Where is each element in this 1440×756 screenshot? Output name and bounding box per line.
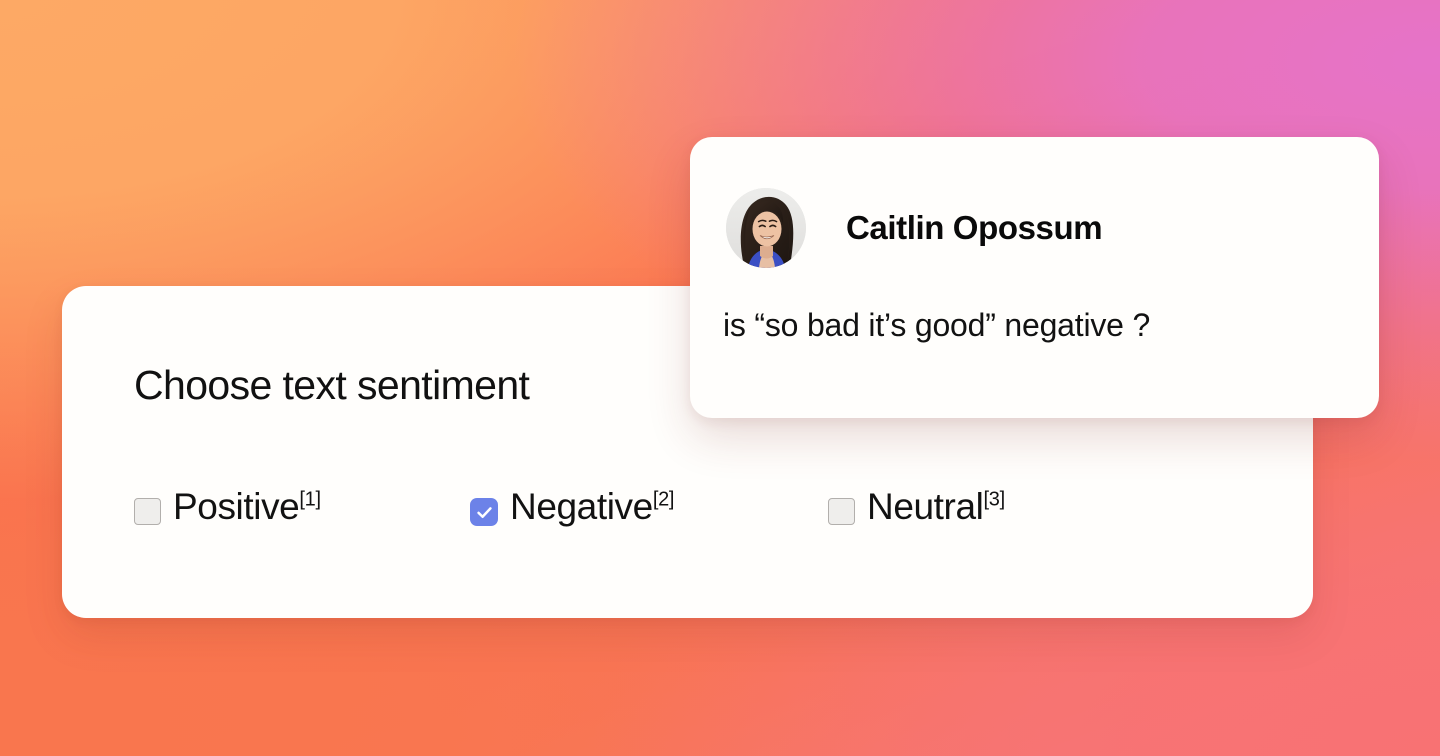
option-neutral-label: Neutral[3] [867, 488, 1005, 525]
option-neutral-shortcut: [3] [983, 489, 1004, 511]
option-negative[interactable]: Negative[2] [470, 488, 828, 526]
user-photo-avatar-icon [726, 188, 806, 268]
option-positive-label: Positive[1] [173, 488, 321, 525]
checkbox-negative[interactable] [470, 498, 498, 526]
checkbox-neutral[interactable] [828, 498, 855, 525]
option-negative-label: Negative[2] [510, 488, 674, 525]
option-negative-shortcut: [2] [653, 489, 674, 511]
message-text: is “so bad it’s good” negative ? [690, 268, 1379, 344]
option-positive[interactable]: Positive[1] [134, 488, 470, 525]
option-neutral-text: Neutral [867, 486, 983, 527]
message-card: Caitlin Opossum is “so bad it’s good” ne… [690, 137, 1379, 418]
option-neutral[interactable]: Neutral[3] [828, 488, 1005, 525]
option-negative-text: Negative [510, 486, 653, 527]
message-header: Caitlin Opossum [690, 137, 1379, 268]
option-positive-text: Positive [173, 486, 299, 527]
author-name: Caitlin Opossum [846, 209, 1102, 247]
page-title: Choose text sentiment [134, 362, 529, 409]
option-positive-shortcut: [1] [299, 489, 320, 511]
checkbox-positive[interactable] [134, 498, 161, 525]
sentiment-options-group: Positive[1] Negative[2] Neutral[3] [134, 488, 1005, 526]
check-icon [475, 503, 494, 522]
avatar [726, 188, 806, 268]
